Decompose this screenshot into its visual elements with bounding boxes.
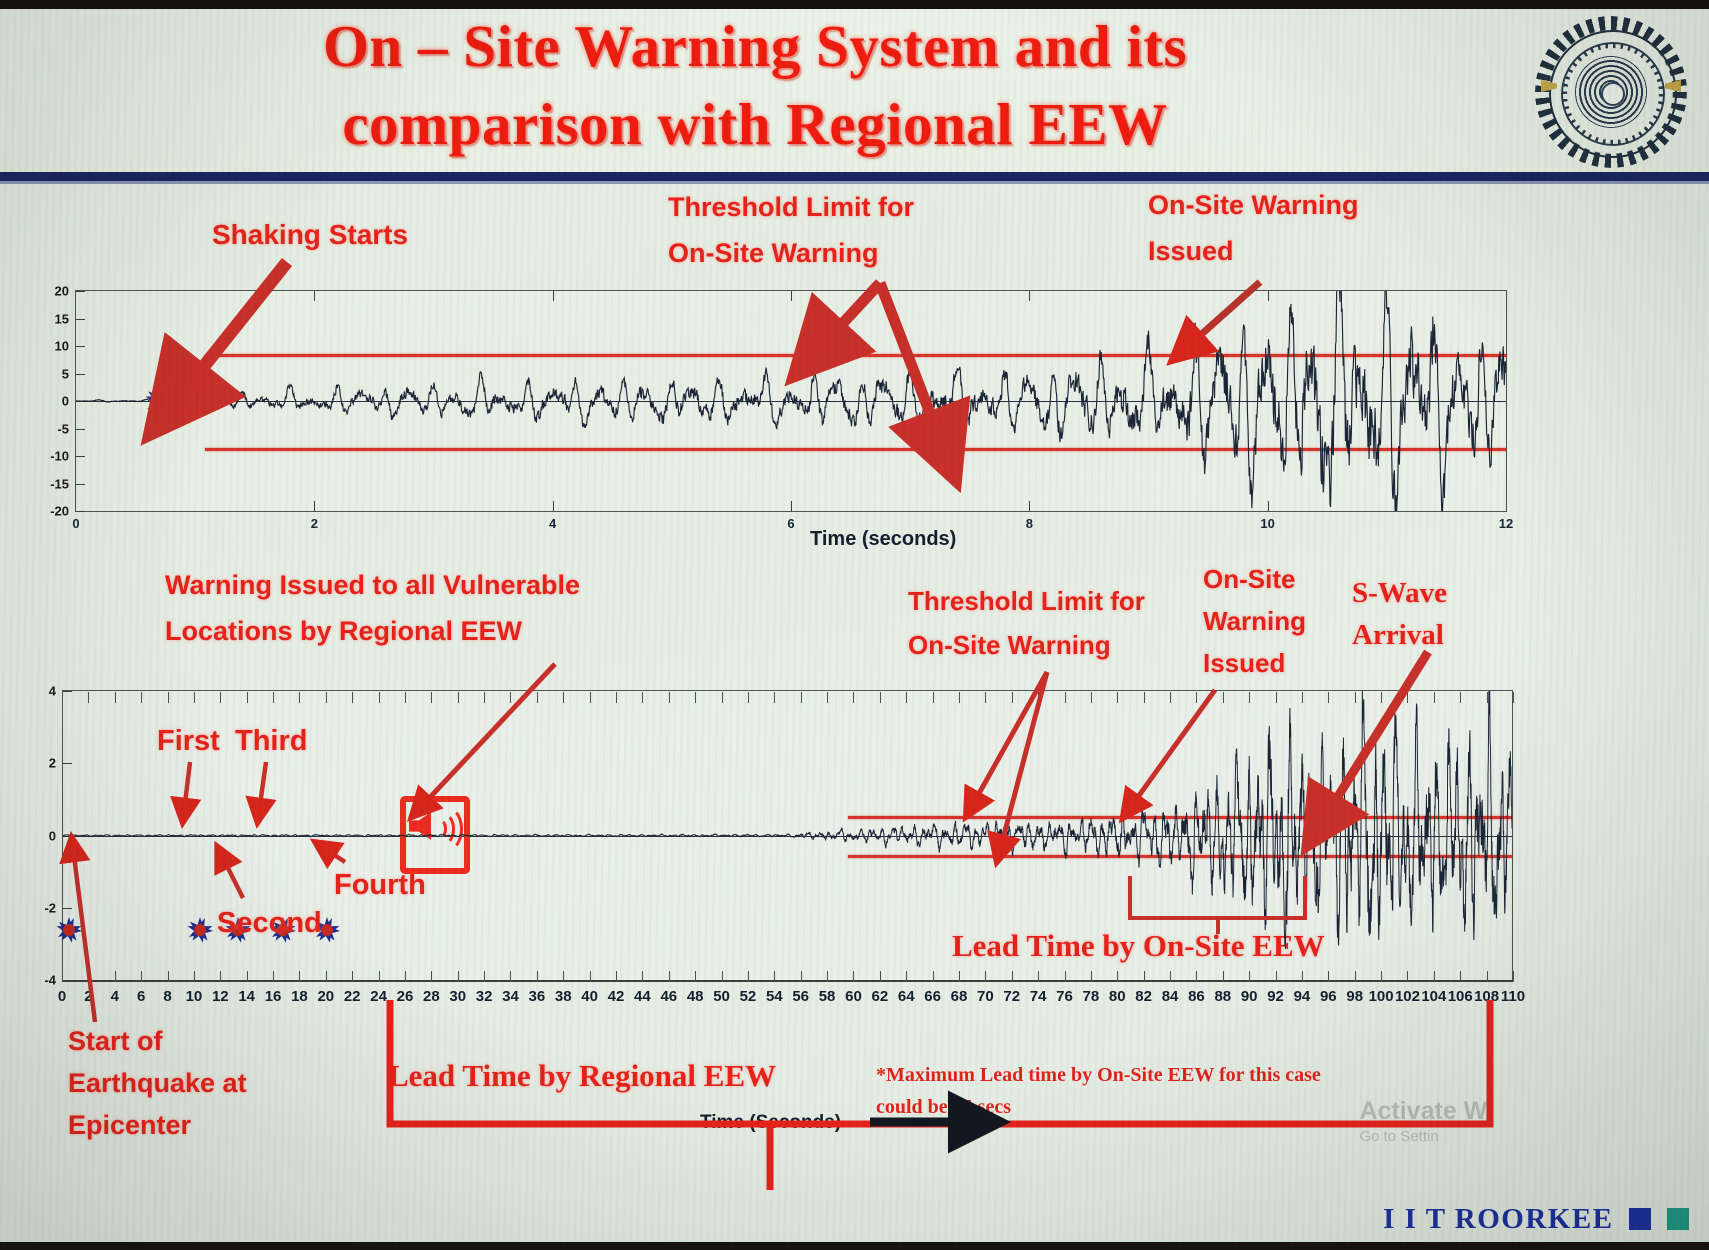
annotation-start-eq-line1: Start of — [68, 1026, 163, 1058]
annotation-onsite-issued-bottom-line2: Warning — [1203, 606, 1306, 637]
x-tick-label: 60 — [845, 988, 862, 1005]
axis-tick-mark — [1276, 971, 1277, 982]
annotation-onsite-issued-bottom-line3: Issued — [1203, 648, 1285, 679]
photo-bottom-edge — [0, 1242, 1709, 1250]
annotation-onsite-issued-top-line2: Issued — [1148, 236, 1234, 268]
axis-tick-mark-top — [1276, 692, 1277, 703]
threshold-line-negative — [848, 855, 1512, 858]
bottom-chart-x-tick-labels: 0246810121416182022242628303234363840424… — [0, 982, 1709, 1022]
axis-tick-mark-top — [1091, 692, 1092, 703]
threshold-line-positive — [205, 354, 1506, 357]
x-tick-label: 44 — [634, 988, 651, 1005]
iit-roorkee-emblem-icon — [1535, 16, 1687, 168]
axis-tick-mark — [1012, 971, 1013, 982]
axis-tick-mark — [827, 971, 828, 982]
annotation-onsite-issued-bottom-line1: On-Site — [1203, 564, 1295, 595]
annotation-second: Second — [217, 906, 322, 940]
x-tick-label: 22 — [344, 988, 361, 1005]
axis-tick-mark-top — [1223, 692, 1224, 703]
axis-tick-mark — [1223, 971, 1224, 982]
y-tick-label: 10 — [55, 339, 69, 354]
x-tick-label: 70 — [977, 988, 994, 1005]
annotation-start-eq-line3: Epicenter — [68, 1110, 191, 1142]
x-tick-label: 58 — [819, 988, 836, 1005]
x-tick-label: 26 — [397, 988, 414, 1005]
axis-tick-mark-top — [774, 692, 775, 703]
annotation-threshold-top-line2: On-Site Warning — [668, 238, 879, 270]
axis-tick-mark — [168, 971, 169, 982]
axis-tick-mark-top — [722, 692, 723, 703]
page-title: On – Site Warning System and its compari… — [120, 8, 1390, 164]
footer-square-teal — [1667, 1208, 1689, 1230]
axis-tick-mark-top — [1144, 692, 1145, 703]
axis-tick-mark-top — [1407, 692, 1408, 703]
y-tick-label: 4 — [49, 684, 56, 699]
axis-tick-mark-top — [1381, 692, 1382, 703]
axis-tick-mark — [985, 971, 986, 982]
footer-square-blue — [1629, 1208, 1651, 1230]
axis-tick-mark — [590, 971, 591, 982]
axis-tick-mark — [1170, 971, 1171, 982]
x-tick-label: 12 — [212, 988, 229, 1005]
axis-tick-mark — [774, 971, 775, 982]
axis-tick-mark — [1091, 971, 1092, 982]
axis-tick-mark-top — [748, 692, 749, 703]
threshold-line-negative — [205, 448, 1506, 451]
axis-tick-mark — [616, 971, 617, 982]
axis-tick-mark — [352, 971, 353, 982]
annotation-third: Third — [235, 724, 308, 758]
axis-tick-mark-top — [1355, 692, 1356, 703]
axis-tick-mark — [959, 971, 960, 982]
axis-tick-mark — [273, 971, 274, 982]
x-tick-label: 8 — [1026, 516, 1033, 531]
x-tick-label: 46 — [660, 988, 677, 1005]
x-tick-label: 32 — [476, 988, 493, 1005]
x-tick-label: 40 — [581, 988, 598, 1005]
x-tick-label: 86 — [1188, 988, 1205, 1005]
annotation-shaking-starts: Shaking Starts — [212, 218, 408, 251]
axis-tick-mark-top — [1117, 692, 1118, 703]
axis-tick-mark — [484, 971, 485, 982]
axis-tick-mark-top — [1065, 692, 1066, 703]
axis-tick-mark-top — [537, 692, 538, 703]
title-line-2: comparison with Regional EEW — [120, 86, 1390, 164]
x-tick-label: 98 — [1346, 988, 1363, 1005]
axis-tick-mark — [933, 971, 934, 982]
x-tick-label: 90 — [1241, 988, 1258, 1005]
x-tick-label: 102 — [1395, 988, 1420, 1005]
axis-tick-mark-top — [220, 692, 221, 703]
axis-tick-mark-top — [1513, 692, 1514, 703]
axis-tick-mark — [1407, 971, 1408, 982]
axis-tick-mark-top — [1196, 692, 1197, 703]
y-tick-label: -2 — [44, 900, 56, 915]
annotation-regional-warning-line1: Warning Issued to all Vulnerable — [165, 570, 580, 602]
axis-tick-mark — [194, 971, 195, 982]
axis-tick-mark-top — [431, 692, 432, 703]
y-tick-label: 20 — [55, 284, 69, 299]
axis-tick-mark-top — [458, 692, 459, 703]
warning-speaker-icon — [400, 796, 470, 874]
x-tick-label: 48 — [687, 988, 704, 1005]
axis-tick-mark-top — [141, 692, 142, 703]
annotation-first: First — [157, 724, 220, 758]
axis-tick-mark-top — [405, 692, 406, 703]
axis-tick-mark-top — [273, 692, 274, 703]
axis-tick-mark-top — [1249, 692, 1250, 703]
x-tick-label: 8 — [163, 988, 171, 1005]
axis-tick-mark — [220, 971, 221, 982]
y-tick-label: -5 — [57, 421, 69, 436]
axis-tick-mark — [563, 971, 564, 982]
axis-tick-mark — [458, 971, 459, 982]
axis-tick-mark-top — [168, 692, 169, 703]
axis-tick-mark — [1328, 971, 1329, 982]
axis-tick-mark-top — [695, 692, 696, 703]
axis-tick-mark-top — [484, 692, 485, 703]
axis-tick-mark — [88, 971, 89, 982]
y-tick-label: -20 — [50, 504, 69, 519]
y-tick-label: 0 — [49, 828, 56, 843]
x-tick-label: 14 — [238, 988, 255, 1005]
windows-activate-watermark: Activate Wi Go to Settin — [1359, 1097, 1494, 1145]
axis-tick-mark-top — [1328, 692, 1329, 703]
axis-tick-mark — [1513, 971, 1514, 982]
x-tick-label: 16 — [265, 988, 282, 1005]
axis-tick-mark — [62, 971, 63, 982]
axis-tick-mark — [1302, 971, 1303, 982]
x-tick-label: 94 — [1294, 988, 1311, 1005]
annotation-lead-time-regional: Lead Time by Regional EEW — [388, 1058, 776, 1095]
axis-tick-mark-top — [669, 692, 670, 703]
x-tick-label: 82 — [1135, 988, 1152, 1005]
axis-tick-mark-top — [827, 692, 828, 703]
x-tick-label: 106 — [1448, 988, 1473, 1005]
axis-tick-mark-top — [299, 692, 300, 703]
x-tick-label: 96 — [1320, 988, 1337, 1005]
axis-tick-mark-top — [1038, 692, 1039, 703]
axis-tick-mark-top — [959, 692, 960, 703]
x-tick-label: 30 — [449, 988, 466, 1005]
axis-tick-mark — [695, 971, 696, 982]
x-tick-label: 76 — [1056, 988, 1073, 1005]
axis-tick-mark — [1038, 971, 1039, 982]
axis-tick-mark-top — [1012, 692, 1013, 703]
axis-tick-mark-top — [985, 692, 986, 703]
axis-tick-mark-top — [326, 692, 327, 703]
axis-tick-mark-top — [88, 692, 89, 703]
axis-tick-mark — [247, 971, 248, 982]
x-tick-label: 2 — [84, 988, 92, 1005]
marker-star-first — [187, 917, 213, 943]
slide-canvas: On – Site Warning System and its compari… — [0, 0, 1709, 1250]
x-tick-label: 56 — [792, 988, 809, 1005]
annotation-swave-line1: S-Wave — [1352, 576, 1447, 610]
x-tick-label: 34 — [502, 988, 519, 1005]
marker-star-shaking-starts — [145, 386, 175, 416]
axis-tick-mark — [1065, 971, 1066, 982]
top-chart-x-axis-label: Time (seconds) — [810, 528, 956, 551]
x-tick-label: 12 — [1499, 516, 1513, 531]
x-tick-label: 54 — [766, 988, 783, 1005]
axis-tick-mark — [326, 971, 327, 982]
axis-tick-mark — [405, 971, 406, 982]
axis-tick-mark-top — [1170, 692, 1171, 703]
x-tick-label: 42 — [608, 988, 625, 1005]
zero-axis-line — [76, 401, 1506, 402]
axis-tick-mark — [299, 971, 300, 982]
axis-tick-mark-top — [1487, 692, 1488, 703]
axis-tick-mark — [1355, 971, 1356, 982]
axis-tick-mark — [1434, 971, 1435, 982]
header-divider-shadow — [0, 181, 1709, 184]
axis-tick-mark — [431, 971, 432, 982]
axis-tick-mark — [510, 971, 511, 982]
footer-logo-text: I I T ROORKEE — [1383, 1203, 1613, 1235]
y-tick-label: 0 — [62, 394, 69, 409]
axis-tick-mark-top — [247, 692, 248, 703]
x-tick-label: 6 — [787, 516, 794, 531]
x-tick-label: 4 — [111, 988, 119, 1005]
marker-star-start-of-earthquake — [56, 917, 82, 943]
y-tick-label: 2 — [49, 756, 56, 771]
axis-tick-mark — [748, 971, 749, 982]
x-tick-label: 38 — [555, 988, 572, 1005]
annotation-threshold-bottom-line2: On-Site Warning — [908, 630, 1111, 661]
x-tick-label: 20 — [317, 988, 334, 1005]
threshold-line-positive — [848, 816, 1512, 819]
axis-tick-mark — [906, 971, 907, 982]
x-tick-label: 62 — [871, 988, 888, 1005]
footer-logo: I I T ROORKEE — [1383, 1203, 1689, 1236]
x-tick-label: 100 — [1369, 988, 1394, 1005]
bottom-chart-x-axis-label: Time (Seconds) — [700, 1112, 841, 1134]
annotation-start-eq-line2: Earthquake at — [68, 1068, 247, 1100]
axis-tick-mark-top — [1460, 692, 1461, 703]
axis-tick-mark-top — [906, 692, 907, 703]
axis-tick-mark — [1381, 971, 1382, 982]
axis-tick-mark — [1117, 971, 1118, 982]
x-tick-label: 104 — [1421, 988, 1446, 1005]
watermark-line-2: Go to Settin — [1359, 1128, 1494, 1145]
axis-tick-mark-top — [1434, 692, 1435, 703]
y-tick-label: 15 — [55, 311, 69, 326]
slide-header: On – Site Warning System and its compari… — [0, 6, 1709, 174]
x-tick-label: 0 — [72, 516, 79, 531]
watermark-line-1: Activate Wi — [1359, 1097, 1494, 1126]
axis-tick-mark-top — [510, 692, 511, 703]
photo-top-edge — [0, 0, 1709, 9]
header-divider — [0, 172, 1709, 181]
annotation-onsite-issued-top-line1: On-Site Warning — [1148, 190, 1359, 222]
axis-tick-mark — [853, 971, 854, 982]
axis-tick-mark-top — [379, 692, 380, 703]
annotation-regional-warning-line2: Locations by Regional EEW — [165, 616, 522, 648]
x-tick-label: 108 — [1474, 988, 1499, 1005]
x-tick-label: 88 — [1214, 988, 1231, 1005]
axis-tick-mark-top — [933, 692, 934, 703]
title-line-1: On – Site Warning System and its — [120, 8, 1390, 86]
axis-tick-mark — [642, 971, 643, 982]
axis-tick-mark — [1249, 971, 1250, 982]
annotation-threshold-bottom-line1: Threshold Limit for — [908, 586, 1145, 617]
axis-tick-mark — [722, 971, 723, 982]
x-tick-label: 84 — [1162, 988, 1179, 1005]
x-tick-label: 10 — [1260, 516, 1274, 531]
axis-tick-mark — [115, 971, 116, 982]
axis-tick-mark-top — [1302, 692, 1303, 703]
x-tick-label: 18 — [291, 988, 308, 1005]
axis-tick-mark — [379, 971, 380, 982]
x-tick-label: 10 — [186, 988, 203, 1005]
x-tick-label: 24 — [370, 988, 387, 1005]
y-tick-label: -15 — [50, 476, 69, 491]
x-tick-label: 110 — [1501, 988, 1525, 1005]
axis-tick-mark — [1487, 971, 1488, 982]
x-tick-label: 72 — [1003, 988, 1020, 1005]
x-tick-label: 80 — [1109, 988, 1126, 1005]
annotation-fourth: Fourth — [334, 868, 426, 902]
x-tick-label: 6 — [137, 988, 145, 1005]
axis-tick-mark-top — [880, 692, 881, 703]
zero-axis-line — [63, 836, 1512, 837]
x-tick-label: 78 — [1083, 988, 1100, 1005]
axis-tick-mark-top — [616, 692, 617, 703]
axis-tick-mark-top — [801, 692, 802, 703]
axis-tick-mark — [801, 971, 802, 982]
axis-tick-mark — [669, 971, 670, 982]
footnote-line2: could be 25 secs — [876, 1094, 1011, 1121]
annotation-swave-line2: Arrival — [1352, 618, 1444, 652]
x-tick-label: 36 — [529, 988, 546, 1005]
axis-tick-mark-top — [194, 692, 195, 703]
annotation-lead-time-onsite: Lead Time by On-Site EEW — [952, 928, 1325, 965]
axis-tick-mark — [1144, 971, 1145, 982]
footnote-line1: *Maximum Lead time by On-Site EEW for th… — [876, 1062, 1321, 1089]
x-tick-label: 92 — [1267, 988, 1284, 1005]
axis-tick-mark-top — [352, 692, 353, 703]
x-tick-label: 4 — [549, 516, 556, 531]
axis-tick-mark-top — [62, 692, 63, 703]
axis-tick-mark-top — [563, 692, 564, 703]
axis-tick-mark — [537, 971, 538, 982]
x-tick-label: 66 — [924, 988, 941, 1005]
top-accelerogram-chart: 20 15 10 5 0 -5 -10 -15 -20 0 2 4 6 8 10… — [75, 290, 1507, 512]
x-tick-label: 50 — [713, 988, 730, 1005]
axis-tick-mark-top — [590, 692, 591, 703]
axis-tick-mark — [880, 971, 881, 982]
axis-tick-mark — [141, 971, 142, 982]
x-tick-label: 28 — [423, 988, 440, 1005]
x-tick-label: 52 — [740, 988, 757, 1005]
x-tick-label: 74 — [1030, 988, 1047, 1005]
axis-tick-mark — [1196, 971, 1197, 982]
x-tick-label: 0 — [58, 988, 66, 1005]
axis-tick-mark — [1460, 971, 1461, 982]
annotation-threshold-top-line1: Threshold Limit for — [668, 192, 914, 224]
axis-tick-mark-top — [115, 692, 116, 703]
x-tick-label: 64 — [898, 988, 915, 1005]
axis-tick-mark-top — [642, 692, 643, 703]
axis-tick-mark-top — [853, 692, 854, 703]
y-tick-label: 5 — [62, 366, 69, 381]
y-tick-label: -10 — [50, 449, 69, 464]
x-tick-label: 68 — [951, 988, 968, 1005]
x-tick-label: 2 — [311, 516, 318, 531]
